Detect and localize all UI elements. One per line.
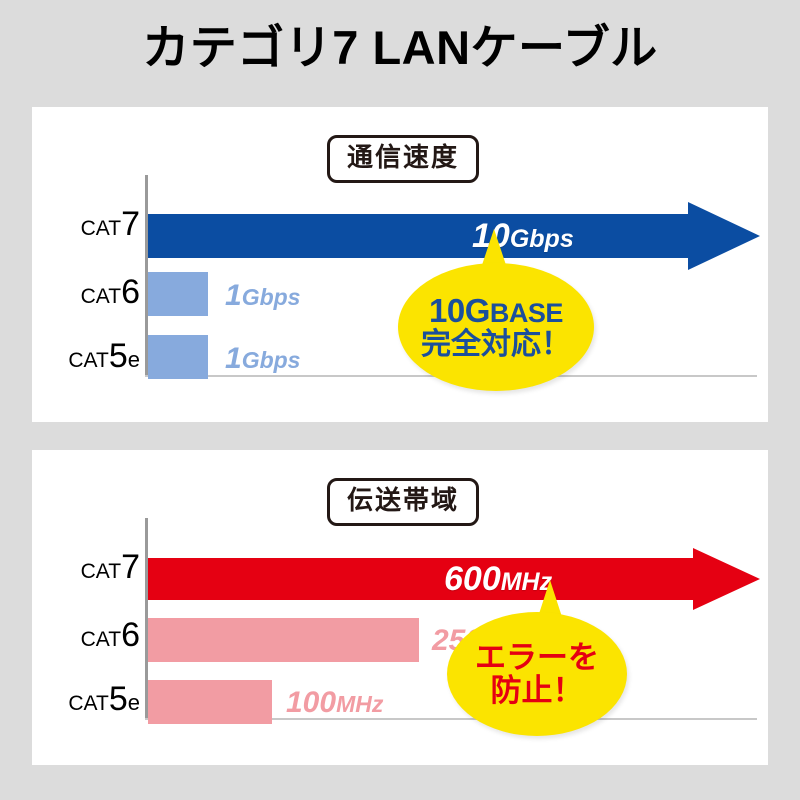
bar-value-cat5e-bandwidth: 100MHz: [286, 688, 383, 718]
chart-transmission-bandwidth: 伝送帯域 CAT7 CAT6 CAT5e 600MHz: [32, 450, 768, 765]
bar-value-number: 100: [286, 686, 336, 719]
bar-value-number: 1: [225, 342, 242, 375]
cat-word: CAT: [81, 217, 121, 240]
bar-value-unit: MHz: [336, 691, 383, 717]
bar-value-unit: Gbps: [242, 284, 301, 310]
category-label-cat7: CAT7: [40, 550, 140, 584]
category-label-cat7: CAT7: [40, 207, 140, 241]
cat-suffix: e: [128, 690, 140, 715]
section-badge-bandwidth: 伝送帯域: [327, 478, 479, 526]
callout-line-1: エラーを: [475, 641, 599, 674]
callout-text: エラーを 防止！: [447, 612, 627, 736]
bar-value-unit: Gbps: [510, 225, 574, 253]
callout-line-2: 防止！: [491, 674, 584, 707]
bar-cat5e-speed: [148, 335, 208, 379]
callout-10gbase: 10GBASE 完全対応！: [398, 263, 594, 391]
panel-transmission-bandwidth: 伝送帯域 CAT7 CAT6 CAT5e 600MHz: [32, 450, 768, 765]
cat-number: 6: [121, 273, 140, 311]
cat-word: CAT: [81, 285, 121, 308]
callout-line-1: 10GBASE: [429, 293, 563, 329]
bar-cat6-speed: [148, 272, 208, 316]
category-label-cat6: CAT6: [40, 275, 140, 309]
cat-word: CAT: [68, 349, 108, 372]
callout-error-prevention: エラーを 防止！: [447, 612, 627, 736]
bar-value-number: 1: [225, 279, 242, 312]
bar-value-cat5e-speed: 1Gbps: [225, 344, 300, 374]
callout-suffix: BASE: [490, 298, 563, 328]
cat-number: 5: [109, 680, 128, 718]
page-title: カテゴリ7 LANケーブル: [0, 22, 800, 74]
category-label-cat5e: CAT5e: [40, 682, 140, 716]
bar-cat7-speed: [148, 202, 760, 270]
cat-word: CAT: [81, 560, 121, 583]
callout-prefix: 10G: [429, 292, 490, 329]
bar-value-number: 600: [444, 560, 501, 598]
bar-cat5e-bandwidth: [148, 680, 272, 724]
cat-suffix: e: [128, 347, 140, 372]
bar-value-cat6-speed: 1Gbps: [225, 281, 300, 311]
cat-number: 7: [121, 205, 140, 243]
category-label-cat6: CAT6: [40, 618, 140, 652]
cat-number: 7: [121, 548, 140, 586]
bar-cat6-bandwidth: [148, 618, 419, 662]
callout-text: 10GBASE 完全対応！: [398, 263, 594, 391]
cat-number: 6: [121, 616, 140, 654]
category-label-cat5e: CAT5e: [40, 339, 140, 373]
callout-line-2: 完全対応！: [421, 329, 571, 361]
cat-number: 5: [109, 337, 128, 375]
bar-value-unit: Gbps: [242, 347, 301, 373]
section-badge-speed: 通信速度: [327, 135, 479, 183]
cat-word: CAT: [81, 628, 121, 651]
cat-word: CAT: [68, 692, 108, 715]
bar-value-cat7-bandwidth: 600MHz: [444, 562, 552, 596]
